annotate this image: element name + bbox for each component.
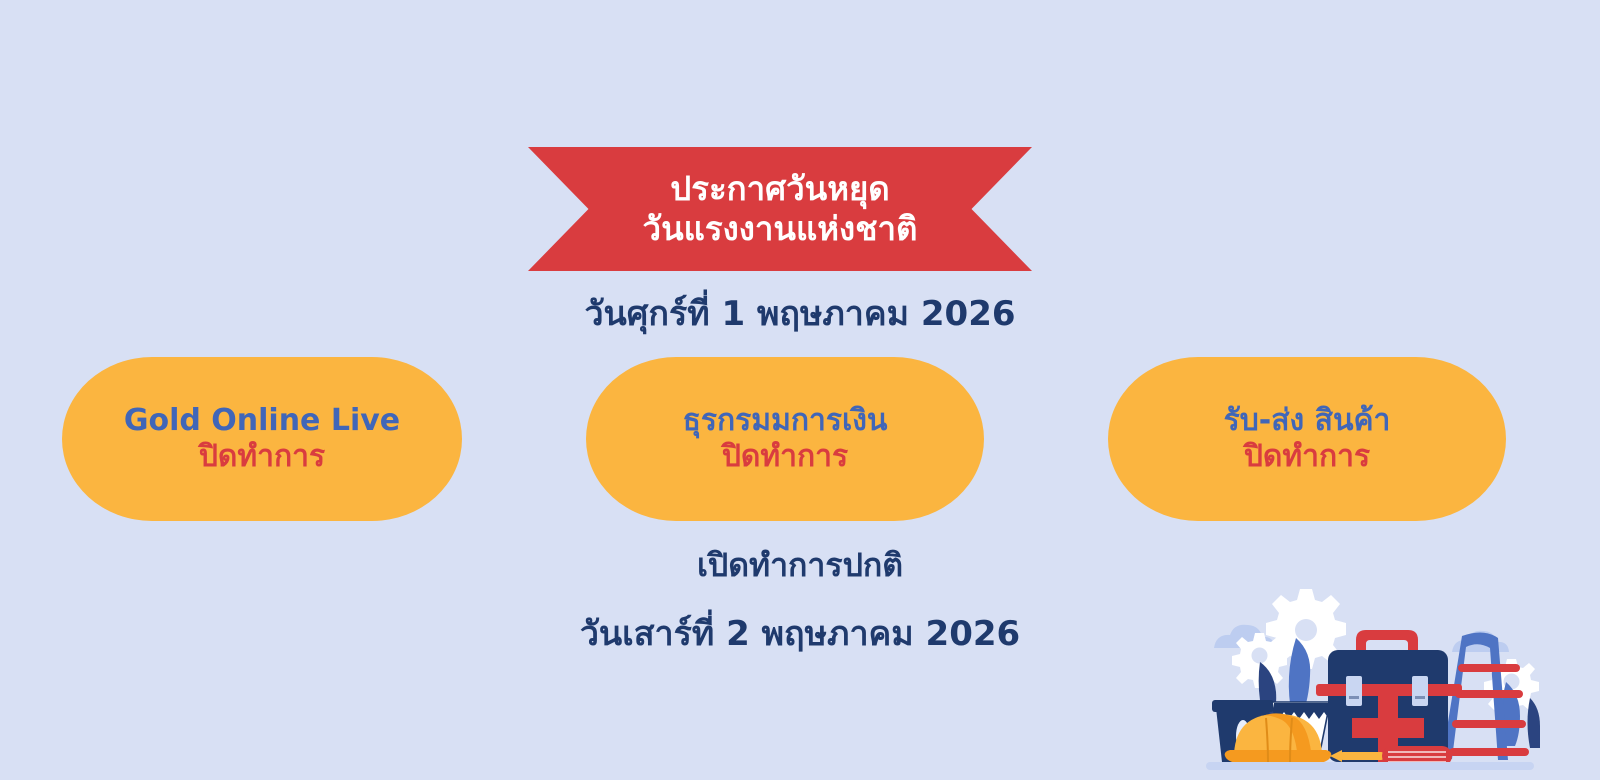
banner-line-1: ประกาศวันหยุด <box>670 169 889 209</box>
service-pill-gold-online-live: Gold Online Live ปิดทำการ <box>62 357 462 521</box>
toolbox-icon <box>1316 650 1462 762</box>
labour-day-tools-illustration <box>1200 580 1540 780</box>
service-title: ธุรกรมมการเงิน <box>683 404 888 439</box>
service-status: ปิดทำการ <box>1244 440 1370 475</box>
service-title: Gold Online Live <box>124 404 400 439</box>
poster-canvas: ประกาศวันหยุด วันแรงงานแห่งชาติ วันศุกร์… <box>0 0 1600 780</box>
ground-line <box>1206 762 1534 770</box>
holiday-announcement-banner: ประกาศวันหยุด วันแรงงานแห่งชาติ <box>528 147 1032 271</box>
service-status: ปิดทำการ <box>199 440 325 475</box>
toolbox-handle-icon <box>1356 630 1418 652</box>
service-pill-financial-transactions: ธุรกรมมการเงิน ปิดทำการ <box>586 357 984 521</box>
service-title: รับ-ส่ง สินค้า <box>1224 404 1391 439</box>
service-status: ปิดทำการ <box>722 440 848 475</box>
service-pill-delivery: รับ-ส่ง สินค้า ปิดทำการ <box>1108 357 1506 521</box>
banner-line-2: วันแรงงานแห่งชาติ <box>643 209 918 249</box>
holiday-date: วันศุกร์ที่ 1 พฤษภาคม 2026 <box>0 286 1600 340</box>
